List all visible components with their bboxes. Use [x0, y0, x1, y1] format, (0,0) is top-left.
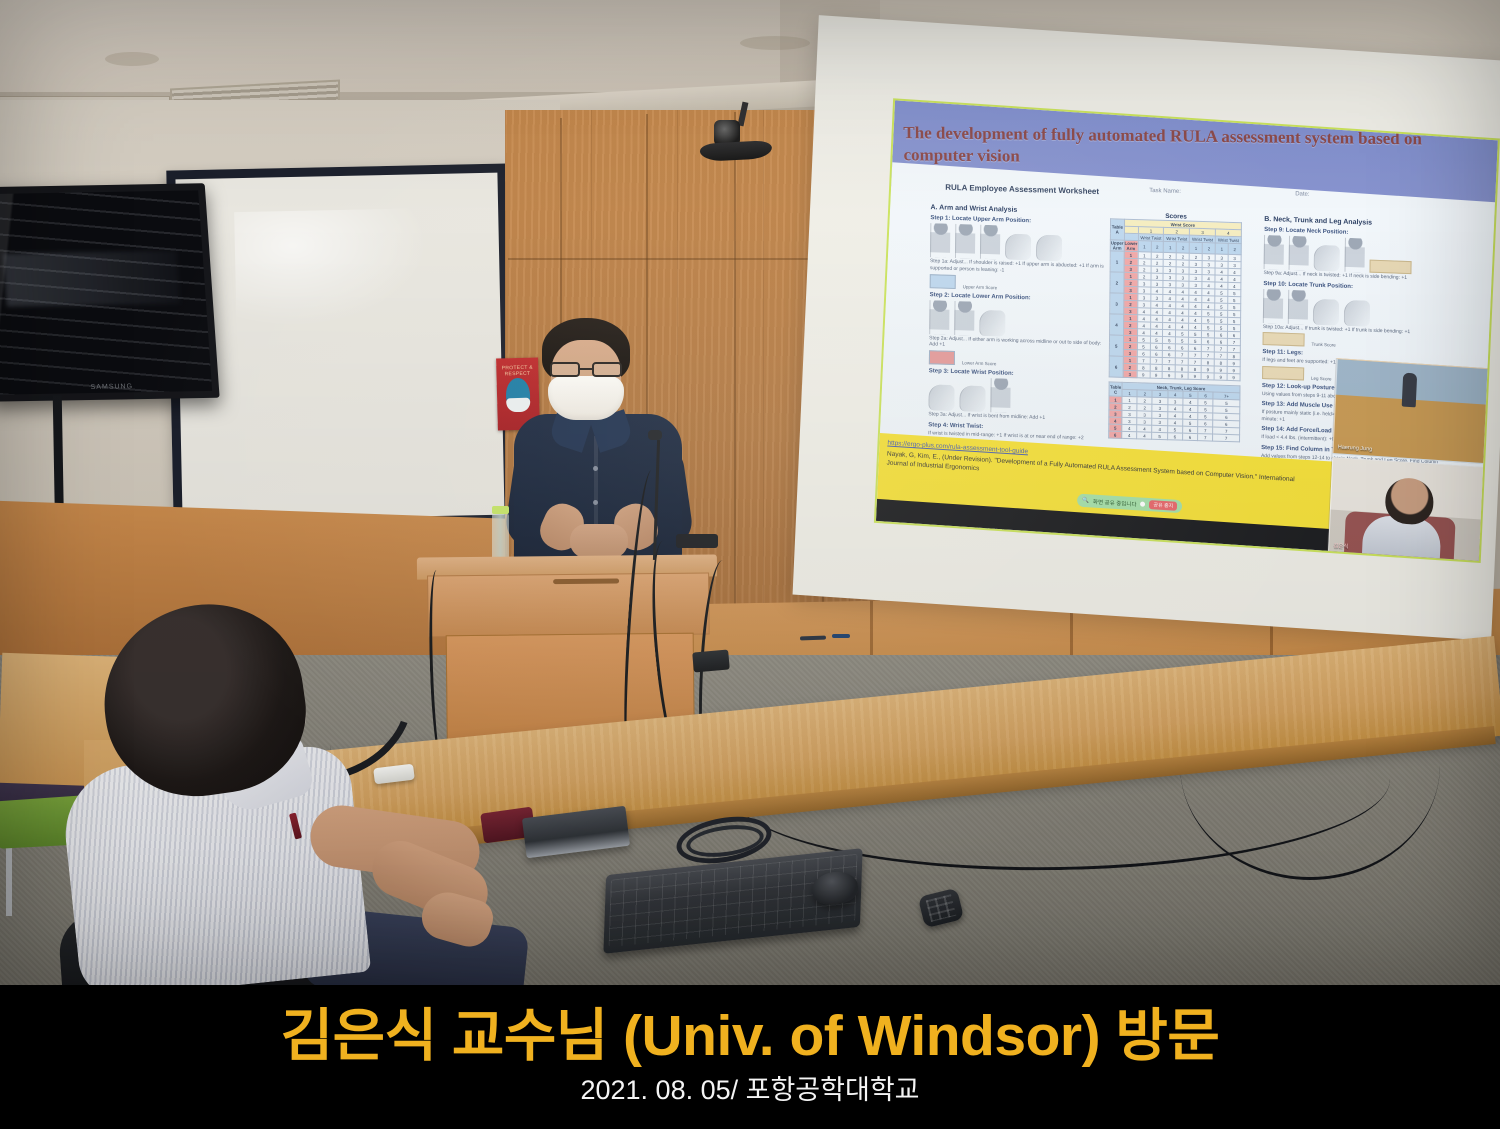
citation-text: Nayak, G, Kim, E., (Under Revision). "De…: [886, 450, 1306, 495]
posture-figure-icon: [1314, 245, 1340, 272]
table-a-upper-arm-value: 3: [1110, 293, 1124, 314]
upper-arm-score-row: Upper Arm Score: [930, 274, 1110, 294]
table-c-cell: 6: [1182, 433, 1197, 440]
presenter-clasped-hands: [570, 524, 628, 558]
posture-figure-icon: [1288, 289, 1308, 324]
table-c-body: 1123345522234455333344564333456654445677…: [1109, 396, 1240, 442]
microphone-head: [648, 430, 662, 440]
posture-figure-icon: [928, 384, 954, 411]
shirt-button: [593, 466, 598, 471]
tv-glare: [0, 190, 212, 394]
leg-score-label: Leg Score: [1311, 375, 1332, 381]
leg-score-box: [1262, 365, 1304, 379]
screenshot-root: SAMSUNG PROTECT & RESPECT: [0, 0, 1500, 1129]
trunk-score-box: [1263, 332, 1305, 346]
table-a-upper-arm-value: 4: [1110, 314, 1124, 335]
table-a: Scores Table A Wrist Score 1 2 3: [1108, 211, 1242, 442]
table-a-cell: 9: [1137, 371, 1150, 378]
shirt-button: [593, 500, 598, 505]
ceiling-fixture: [105, 52, 159, 66]
video-tile-name: Haerung Jung: [1338, 444, 1373, 452]
tv-brand-label: SAMSUNG: [90, 383, 133, 391]
video-tile-room-view[interactable]: Haerung Jung: [1332, 358, 1488, 464]
lower-arm-figures: [929, 300, 1109, 340]
twist-col: 1: [1164, 241, 1177, 252]
lower-arm-score-box: [929, 350, 955, 365]
power-strip: [692, 649, 730, 672]
posture-figure-icon: [955, 224, 975, 259]
posture-figure-icon: [979, 309, 1005, 336]
upper-arm-score-box: [930, 274, 956, 289]
posture-figure-icon: [959, 385, 985, 412]
slide-title: The development of fully automated RULA …: [903, 122, 1463, 174]
trunk-score-label: Trunk Score: [1311, 342, 1335, 348]
camera-body: [700, 140, 773, 162]
video-conference-camera: [700, 120, 772, 166]
table-a-cell: 9: [1188, 372, 1201, 379]
table-c-cell: 7: [1198, 434, 1213, 441]
posture-figure-icon: [1344, 299, 1370, 326]
screen-share-indicator[interactable]: 🔍 화면 공유 중입니다 공유 중지: [1077, 494, 1183, 514]
lower-arm-score-label: Lower Arm Score: [962, 360, 997, 366]
table-a-body: 1112222333222223333323333344212333344423…: [1109, 251, 1241, 381]
participant-head: [1384, 477, 1434, 526]
trunk-figures: [1263, 288, 1443, 328]
water-bottle: [492, 513, 509, 561]
table-a-caption: Table A: [1110, 219, 1124, 240]
lower-arm-score-row: Lower Arm Score: [929, 350, 1109, 370]
seminar-photograph: SAMSUNG PROTECT & RESPECT: [0, 0, 1500, 985]
presenter-glasses: [549, 362, 623, 377]
twist-col: 1: [1215, 243, 1228, 254]
table-c-cell: 5: [1152, 432, 1167, 439]
glasses-bridge: [580, 368, 592, 370]
bottle-cap: [492, 506, 509, 514]
posture-figure-icon: [1313, 298, 1339, 325]
share-status-label: 화면 공유 중입니다: [1093, 497, 1137, 508]
video-tile-strip: Haerung Jung 김은식: [1327, 358, 1488, 563]
wall-mounted-tv: SAMSUNG: [0, 183, 220, 401]
posture-figure-icon: [929, 300, 949, 335]
twist-col: 2: [1177, 242, 1190, 253]
posture-figure-icon: [1289, 236, 1309, 271]
table-c-row-value: 6: [1109, 431, 1122, 438]
date-label: Date:: [1295, 191, 1309, 197]
posture-figure-icon: [930, 223, 950, 258]
video-tile-name: 김은식: [1333, 541, 1349, 550]
share-dot-icon: [1140, 502, 1145, 507]
presenter-standing: [508, 318, 688, 588]
twist-col: 2: [1228, 243, 1241, 254]
neck-score-box: [1369, 260, 1411, 274]
table-c-cell: 7: [1213, 434, 1240, 442]
worksheet-title: RULA Employee Assessment Worksheet: [945, 183, 1099, 196]
caption-subtitle: 2021. 08. 05/ 포항공학대학교: [580, 1068, 919, 1107]
posture-figure-icon: [1263, 288, 1283, 323]
twist-col: 1: [1190, 242, 1203, 253]
table-a-cell: 9: [1150, 371, 1163, 378]
glasses-lens-right: [592, 362, 622, 377]
posture-figure-icon: [1036, 234, 1062, 261]
caption-bar: 김은식 교수님 (Univ. of Windsor) 방문 2021. 08. …: [0, 985, 1500, 1129]
table-a-grid: Table A Wrist Score 1 2 3 4: [1109, 218, 1242, 381]
step-8-note: Add values from steps 5-7 to obtain Wris…: [927, 535, 1107, 547]
twist-col: 1: [1138, 241, 1151, 252]
posture-figure-icon: [980, 225, 1000, 260]
table-a-cell: 9: [1176, 372, 1189, 379]
projection-screen: The development of fully automated RULA …: [793, 15, 1500, 641]
cable-connector-block: [676, 534, 718, 548]
table-a-upper-arm-value: 6: [1109, 356, 1123, 377]
panel-groove: [734, 112, 736, 652]
posture-figure-icon: [990, 378, 1010, 413]
row-head-upper: Upper Arm: [1110, 240, 1124, 251]
presenter-face-mask: [548, 376, 624, 420]
stop-sharing-button[interactable]: 공유 중지: [1149, 500, 1177, 511]
task-name-label: Task Name:: [1149, 188, 1181, 195]
posture-figure-icon: [954, 300, 974, 335]
whiteboard-marker: [832, 634, 850, 638]
table-c-caption: Table C: [1109, 382, 1122, 396]
seated-attendee: [70, 605, 490, 985]
video-tile-participant[interactable]: 김은식: [1328, 457, 1484, 563]
glasses-lens-left: [550, 362, 580, 377]
remote-buttons: [926, 894, 957, 922]
neck-figures: [1264, 235, 1444, 275]
wrist-figures: [928, 376, 1108, 416]
posture-figure-icon: [1344, 238, 1364, 273]
table-a-upper-arm-value: 1: [1110, 251, 1124, 272]
table-c-cell: 4: [1122, 431, 1137, 438]
projected-slide: The development of fully automated RULA …: [874, 98, 1500, 563]
ceiling-fixture: [740, 36, 810, 50]
table-c-grid: Table C Neck, Trunk, Leg Score 1 2 3 4 5…: [1108, 381, 1240, 442]
table-a-upper-arm-value: 5: [1109, 335, 1123, 356]
whiteboard: [166, 163, 513, 530]
magnifier-icon: 🔍: [1082, 497, 1089, 503]
upper-arm-figures: [930, 223, 1110, 263]
remote-person-silhouette: [1402, 373, 1418, 408]
row-head-lower: Lower Arm: [1124, 240, 1138, 251]
table-c-cell: 6: [1167, 433, 1182, 440]
upper-arm-score-label: Upper Arm Score: [963, 284, 998, 290]
posture-figure-icon: [1005, 233, 1031, 260]
twist-col: 2: [1151, 241, 1164, 252]
table-a-cell: 9: [1214, 373, 1227, 380]
section-a-heading: A. Arm and Wrist Analysis: [930, 204, 1110, 217]
table-a-cell: 9: [1201, 373, 1214, 380]
table-a-upper-arm-value: 2: [1110, 272, 1124, 293]
twist-col: 2: [1202, 243, 1215, 254]
caption-title: 김은식 교수님 (Univ. of Windsor) 방문: [281, 1007, 1220, 1066]
table-a-cell: 9: [1227, 373, 1240, 380]
posture-figure-icon: [1264, 235, 1284, 270]
table-a-cell: 9: [1163, 372, 1176, 379]
podium-handle-slot: [553, 578, 619, 584]
table-a-lower-arm-value: 3: [1123, 370, 1137, 377]
table-c-cell: 4: [1137, 432, 1152, 439]
